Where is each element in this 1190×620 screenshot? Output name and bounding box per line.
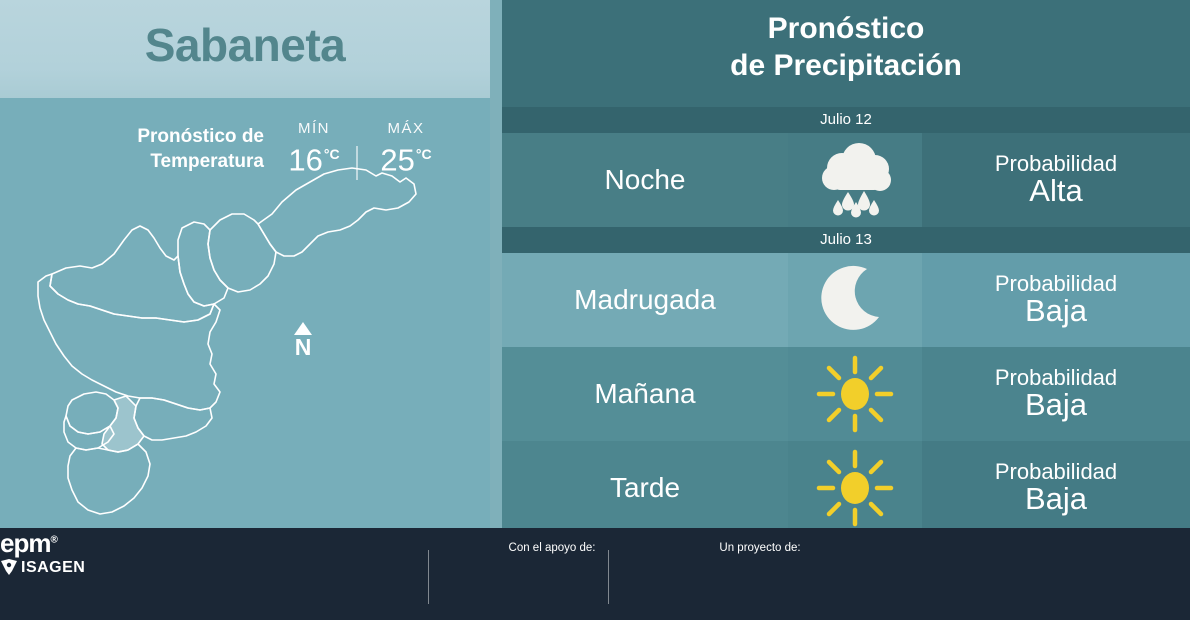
footer-divider [608,550,609,604]
rain-cloud-icon [812,142,898,218]
project-caption: Un proyecto de: [690,542,830,554]
forecast-time-label: Mañana [594,378,695,410]
map-region-caldas [68,444,150,514]
probability-value: Alta [995,175,1117,208]
forecast-row-probability-cell: Probabilidad Baja [922,253,1190,347]
probability-caption: Probabilidad [995,272,1117,295]
date-band-julio-12: Julio 12 [502,107,1190,133]
probability-caption: Probabilidad [995,366,1117,389]
map-region-copacabana [178,222,228,306]
map-region-barbosa [258,168,416,256]
forecast-title-line2: de Precipitación [502,47,1190,84]
forecast-time-label: Madrugada [574,284,716,316]
forecast-row-time-cell: Mañana [502,347,788,441]
probability-value: Baja [995,295,1117,328]
aburra-valley-map: N [14,164,476,520]
forecast-row-manana[interactable]: Mañana [502,347,1190,441]
left-panel: Sabaneta Pronóstico de Temperatura MÍN 1… [0,0,490,528]
forecast-time-label: Tarde [610,472,680,504]
temperature-label-line1: Pronóstico de [86,124,264,149]
sun-icon [815,354,895,434]
forecast-panel: Pronóstico de Precipitación Julio 12 Noc… [490,0,1190,528]
footer: Con el apoyo de: Un proyecto de: SIATA e [0,528,1190,620]
compass-label: N [286,336,320,358]
city-header-band: Sabaneta [0,0,490,98]
epm-logo-text: epm [0,528,50,558]
probability-value: Baja [995,483,1117,516]
temperature-max-unit: °C [416,146,432,162]
forecast-row-icon-cell [788,133,922,227]
forecast-time-label: Noche [605,164,686,196]
temperature-max-caption: MÁX [368,120,444,137]
city-title: Sabaneta [0,18,490,72]
forecast-row-noche[interactable]: Noche [502,133,1190,227]
compass-north-indicator: N [286,322,320,358]
forecast-row-madrugada[interactable]: Madrugada Probabilidad Baja [502,253,1190,347]
isagen-logo[interactable]: ISAGEN [0,559,1190,577]
forecast-row-icon-cell [788,347,922,441]
isagen-logo-text: ISAGEN [21,559,85,576]
forecast-row-probability-cell: Probabilidad Baja [922,347,1190,441]
map-region-envigado [134,398,212,440]
forecast-row-tarde[interactable]: Tarde [502,441,1190,535]
forecast-title-line1: Pronóstico [502,10,1190,47]
forecast-row-probability-cell: Probabilidad Baja [922,441,1190,535]
forecast-title: Pronóstico de Precipitación [502,10,1190,84]
temperature-min-caption: MÍN [276,120,352,137]
map-panel: Pronóstico de Temperatura MÍN 16°C MÁX 2… [0,98,490,528]
forecast-row-time-cell: Tarde [502,441,788,535]
forecast-row-time-cell: Madrugada [502,253,788,347]
forecast-row-probability-cell: Probabilidad Alta [922,133,1190,227]
probability-caption: Probabilidad [995,460,1117,483]
crescent-moon-icon [821,265,889,335]
footer-divider [428,550,429,604]
probability-value: Baja [995,389,1117,422]
date-band-julio-13: Julio 13 [502,227,1190,253]
probability-caption: Probabilidad [995,152,1117,175]
sun-icon [815,448,895,528]
map-region-girardota [208,214,276,292]
map-region-bello [50,226,214,322]
temperature-min-unit: °C [324,146,340,162]
panel-left-gutter [490,0,502,528]
forecast-row-icon-cell [788,253,922,347]
forecast-row-icon-cell [788,441,922,535]
epm-registered-mark: ® [50,534,56,545]
map-region-medellin [38,274,220,410]
forecast-row-time-cell: Noche [502,133,788,227]
weather-infographic: Sabaneta Pronóstico de Temperatura MÍN 1… [0,0,1190,620]
